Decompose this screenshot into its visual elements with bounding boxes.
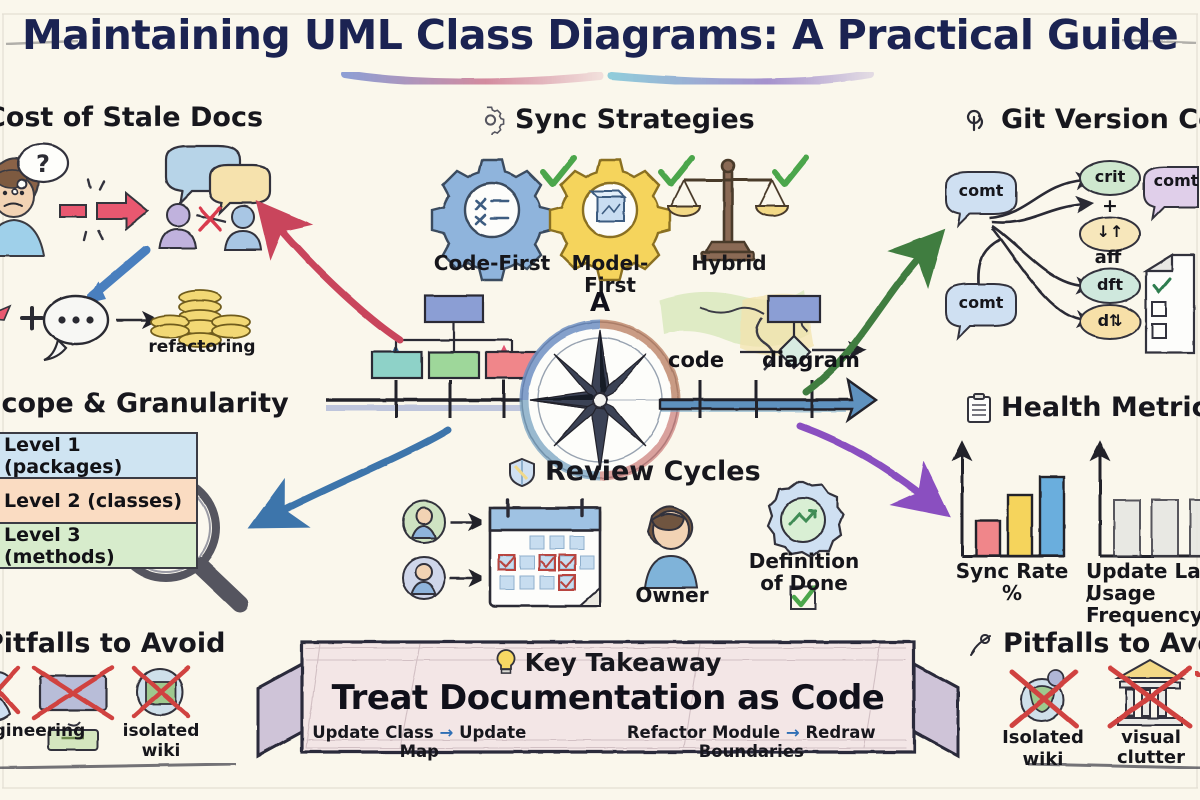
title-underline [345, 74, 870, 83]
miscommunication-people-icon [160, 204, 261, 250]
infographic-canvas: ? [0, 0, 1200, 800]
svg-text:?: ? [36, 150, 50, 178]
calendar-checklist-icon [490, 500, 600, 606]
review-cycles-illustration [403, 482, 843, 609]
git-version-control-illustration [946, 161, 1198, 353]
hub-to-cost-arrow [276, 224, 400, 340]
pitfalls-left-illustration [0, 668, 236, 768]
health-metrics-illustration [962, 452, 1200, 556]
sync-strategies-illustration [432, 158, 806, 280]
cost-of-stale-docs-illustration: ? [0, 144, 270, 360]
definition-of-done-badge-icon [768, 482, 843, 557]
speech-bubbles-icon [166, 146, 270, 213]
blue-arrow-icon [84, 250, 146, 304]
key-takeaway-ribbon [258, 642, 958, 756]
coins-stack-icon [151, 290, 250, 347]
pitfalls-right-illustration [1012, 660, 1200, 768]
title-edge-ticks [6, 40, 1196, 44]
magnifying-glass-icon [116, 478, 240, 604]
owner-person-icon [645, 506, 697, 588]
hub-to-git-arrow [806, 252, 924, 392]
broken-red-arrow-icon [60, 180, 148, 240]
compass-rose-icon [522, 322, 678, 478]
